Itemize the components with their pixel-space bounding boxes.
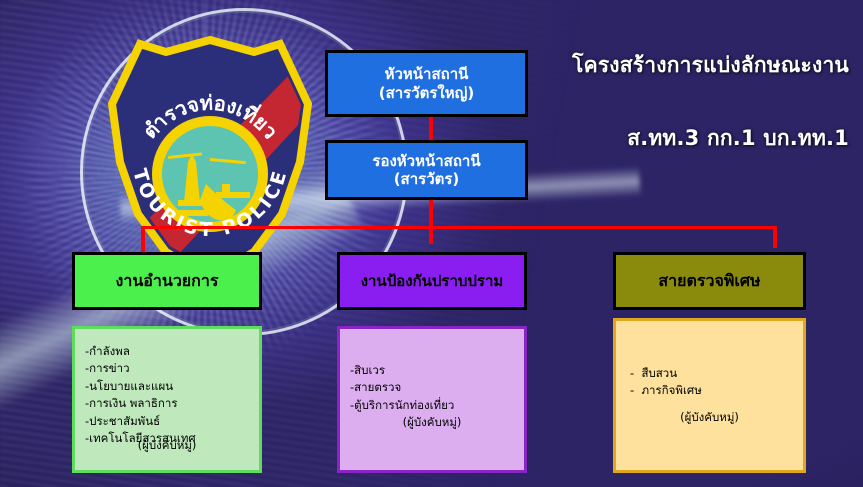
title-line-2: ส.ทท.3 กก.1 บก.ทท.1 xyxy=(572,126,849,150)
node-chief-line-2: (สารวัตรใหญ่) xyxy=(379,84,475,102)
panel-special[interactable]: - สืบสวน - ภารกิจพิเศษ (ผู้บังคับหมู่) xyxy=(613,318,806,473)
panel-special-items: - สืบสวน - ภารกิจพิเศษ xyxy=(630,365,702,400)
connector-to-special xyxy=(773,226,777,248)
connector-deputy-down xyxy=(429,199,433,244)
slide-title: โครงสร้างการแบ่งลักษณะงาน ส.ทท.3 กก.1 บก… xyxy=(572,4,849,199)
panel-prevention-footer: (ผู้บังคับหมู่) xyxy=(340,414,524,431)
node-admin[interactable]: งานอำนวยการ xyxy=(72,252,262,310)
node-deputy-line-2: (สารวัตร) xyxy=(372,170,480,188)
panel-admin-items: -กำลังพล -การข่าว -นโยบายและแผน -การเงิน… xyxy=(85,343,196,448)
title-line-1: โครงสร้างการแบ่งลักษณะงาน xyxy=(572,53,849,77)
node-chief-line-1: หัวหน้าสถานี xyxy=(379,65,475,83)
node-special-label: สายตรวจพิเศษ xyxy=(658,271,760,291)
node-special[interactable]: สายตรวจพิเศษ xyxy=(613,252,806,310)
connector-horizontal-bus xyxy=(141,226,777,229)
panel-special-footer: (ผู้บังคับหมู่) xyxy=(616,409,803,426)
tourist-police-badge-icon: ตำรวจท่องเที่ยว TOURIST POLICE xyxy=(104,34,316,284)
node-prevention[interactable]: งานป้องกันปราบปราม xyxy=(337,252,527,310)
panel-prevention-items: -สิบเวร -สายตรวจ -ตู้บริการนักท่องเที่ยว xyxy=(350,362,454,414)
node-chief[interactable]: หัวหน้าสถานี (สารวัตรใหญ่) xyxy=(325,50,528,117)
slide-canvas: ตำรวจท่องเที่ยว TOURIST POLICE โครงสร้าง… xyxy=(0,0,863,487)
node-deputy[interactable]: รองหัวหน้าสถานี (สารวัตร) xyxy=(325,140,528,200)
node-deputy-line-1: รองหัวหน้าสถานี xyxy=(372,152,480,170)
node-admin-label: งานอำนวยการ xyxy=(116,271,219,291)
panel-admin-footer: (ผู้บังคับหมู่) xyxy=(75,437,259,454)
panel-admin[interactable]: -กำลังพล -การข่าว -นโยบายและแผน -การเงิน… xyxy=(72,326,262,473)
panel-prevention[interactable]: -สิบเวร -สายตรวจ -ตู้บริการนักท่องเที่ยว… xyxy=(337,326,527,473)
node-prevention-label: งานป้องกันปราบปราม xyxy=(361,272,504,290)
connector-to-admin xyxy=(141,226,145,253)
